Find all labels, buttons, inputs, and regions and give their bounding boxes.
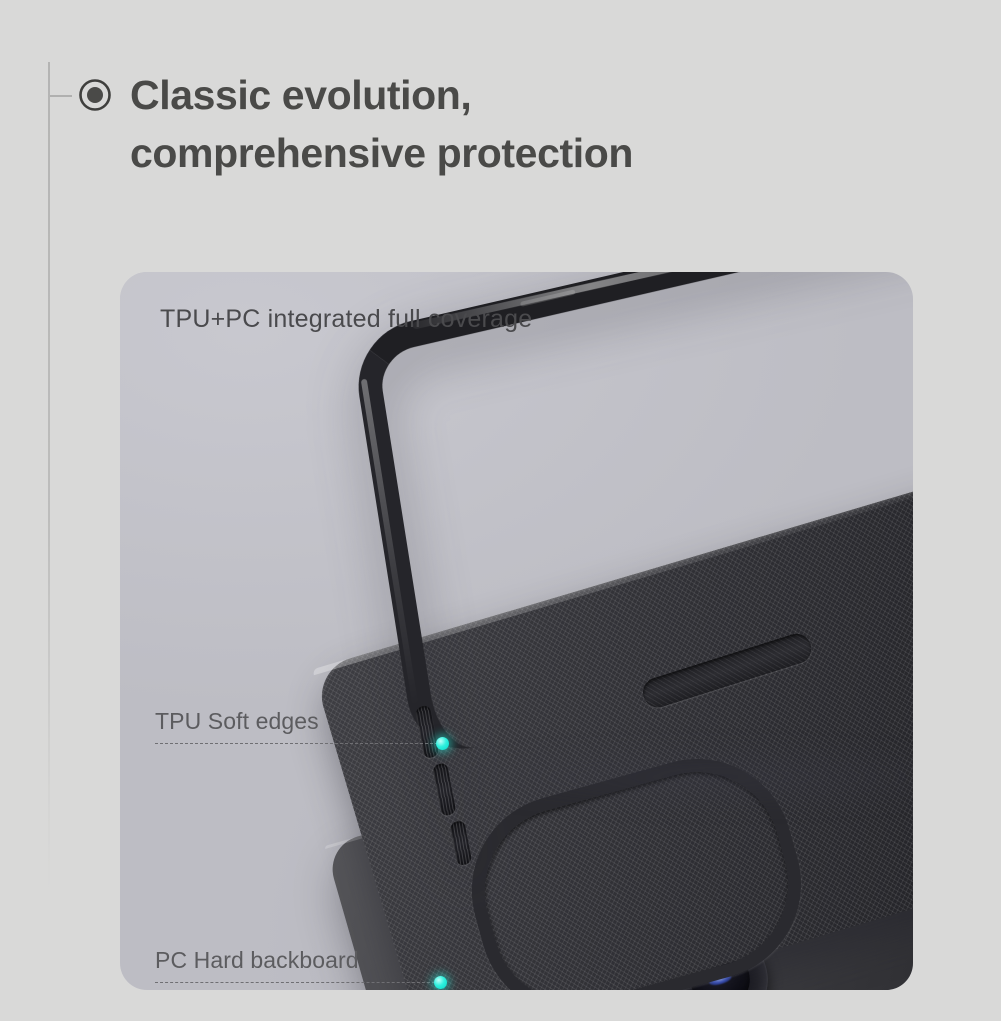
- backplate-camera-cutout: [450, 737, 823, 990]
- camera-lens-glint: [708, 972, 732, 987]
- camera-lens-inner: [684, 943, 757, 990]
- left-decorative-rail: [48, 62, 50, 892]
- target-dot-icon: [78, 78, 112, 112]
- camera-lens-3: [661, 921, 779, 990]
- backplate-button-recess: [639, 630, 815, 711]
- callout-label: TPU Soft edges: [155, 708, 319, 735]
- camera-lens-glint: [617, 920, 641, 935]
- bumper-contact-shadow: [420, 742, 913, 812]
- card-title: TPU+PC integrated full coverage: [160, 305, 532, 334]
- bumper-button-cutout-2: [432, 762, 456, 817]
- product-illustration: [120, 272, 913, 990]
- product-feature-card: TPU+PC integrated full coverage TPU Soft…: [120, 272, 913, 990]
- camera-lens-glint: [526, 868, 550, 883]
- bumper-button-cutout-1: [415, 704, 439, 759]
- bumper-button-cutout-3: [449, 820, 472, 867]
- callout-label: PC Hard backboard: [155, 947, 359, 974]
- backplate-edge-highlight: [312, 454, 913, 676]
- page-title: Classic evolution, comprehensive protect…: [130, 66, 930, 182]
- callout-dot: [436, 737, 449, 750]
- camera-lens-1: [480, 817, 598, 935]
- phone-body: [325, 653, 913, 990]
- tpu-bumper-frame: [350, 272, 913, 761]
- callout-dot: [434, 976, 447, 989]
- camera-flash: [677, 866, 696, 885]
- callout-leader-line: [155, 743, 443, 744]
- callout-leader-line: [155, 982, 440, 983]
- pc-hard-backplate: [312, 454, 913, 990]
- rail-tick-mark: [50, 95, 72, 97]
- camera-lens-inner: [502, 839, 575, 912]
- camera-lens-2: [571, 869, 689, 987]
- camera-lens-inner: [593, 891, 666, 964]
- phone-body-edge-highlight: [325, 653, 913, 849]
- card-background-wash: [120, 272, 913, 990]
- bumper-left-gloss: [361, 378, 419, 706]
